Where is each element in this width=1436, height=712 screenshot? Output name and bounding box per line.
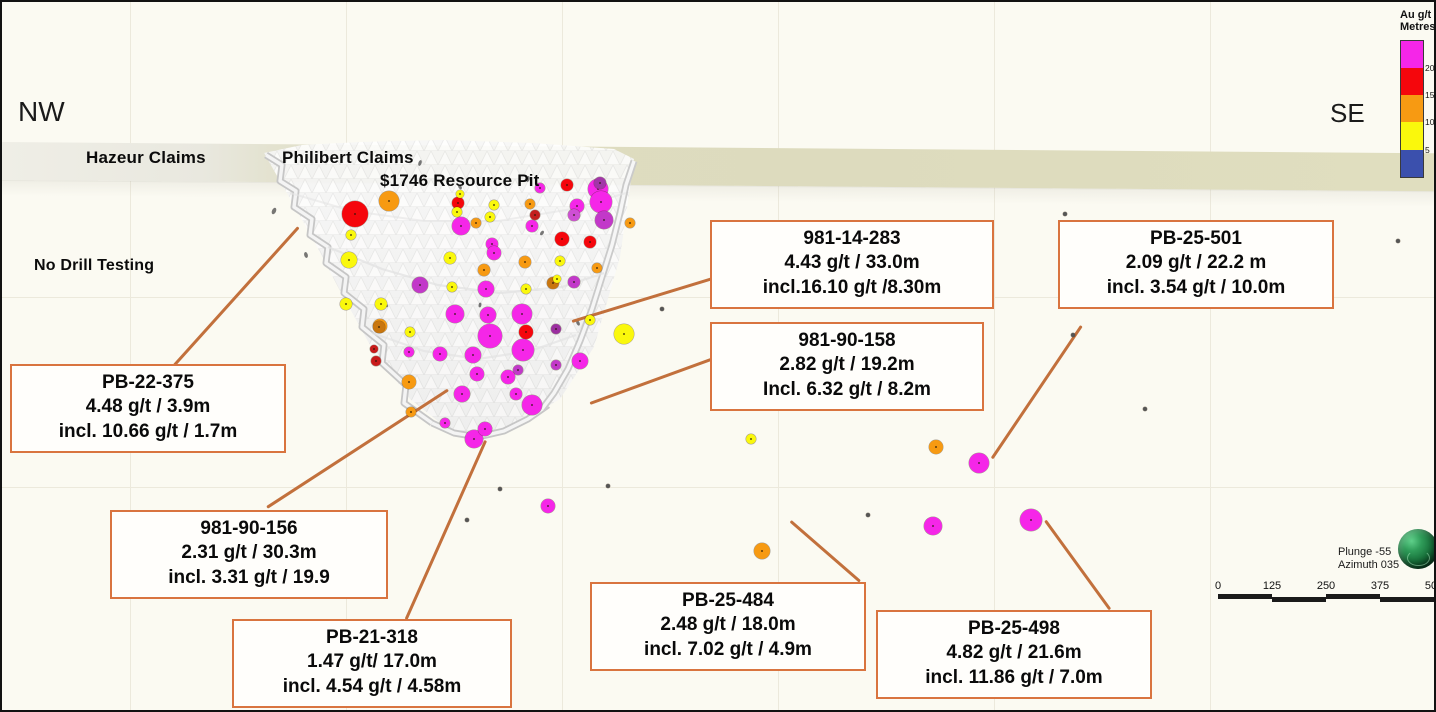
drill-hole-marker [480, 307, 496, 323]
leader-line-981-90-158 [589, 356, 716, 405]
callout-intercept-line: incl.16.10 g/t /8.30m [724, 276, 980, 300]
drill-hole-marker [405, 327, 415, 337]
leader-line-981-14-283 [572, 273, 726, 323]
drill-hole-marker [485, 212, 495, 222]
drill-hole-marker [370, 345, 378, 353]
drill-hole-marker [478, 422, 492, 436]
drill-hole-marker [594, 177, 606, 189]
scale-tick-labels: 0125250375500 [1218, 580, 1434, 594]
drill-hole-marker [541, 499, 555, 513]
color-legend: Au g/t Metres 2015105 [1400, 10, 1435, 178]
drill-hole-marker [1396, 239, 1400, 243]
grid-line-vertical [346, 2, 347, 710]
drill-hole-marker [606, 484, 610, 488]
legend-band [1401, 122, 1423, 149]
drill-hole-marker [924, 517, 942, 535]
drill-hole-marker [371, 356, 381, 366]
drill-hole-marker [501, 370, 515, 384]
drill-hole-marker [452, 207, 462, 217]
intercept-callout[interactable]: 981-14-2834.43 g/t / 33.0mincl.16.10 g/t… [710, 220, 994, 309]
drill-hole-marker [373, 321, 385, 333]
drill-hole-marker [568, 276, 580, 288]
callout-intercept-line: incl. 7.02 g/t / 4.9m [604, 638, 852, 662]
drill-hole-marker [660, 307, 664, 311]
drill-hole-marker [487, 246, 501, 260]
intercept-callout[interactable]: PB-25-4984.82 g/t / 21.6mincl. 11.86 g/t… [876, 610, 1152, 699]
drill-hole-marker [447, 282, 457, 292]
grid-line-vertical [994, 2, 995, 710]
drill-hole-marker [478, 264, 490, 276]
drill-hole-marker [340, 298, 352, 310]
grid-line-vertical [130, 2, 131, 710]
drill-hole-marker [866, 513, 870, 517]
drill-hole-marker [1071, 333, 1075, 337]
drill-hole-marker [1063, 212, 1067, 216]
grid-line-vertical [1210, 2, 1211, 710]
drill-hole-marker [510, 388, 522, 400]
callout-hole-id: 981-14-283 [724, 227, 980, 251]
drill-hole-marker [498, 487, 502, 491]
intercept-callout[interactable]: PB-25-5012.09 g/t / 22.2 mincl. 3.54 g/t… [1058, 220, 1334, 309]
callout-hole-id: PB-25-484 [604, 589, 852, 613]
legend-band [1401, 95, 1423, 122]
drill-hole-marker [519, 256, 531, 268]
drill-hole-marker [402, 375, 416, 389]
intercept-callout[interactable]: PB-21-3181.47 g/t/ 17.0mincl. 4.54 g/t /… [232, 619, 512, 708]
callout-intercept-line: 4.43 g/t / 33.0m [724, 251, 980, 275]
intercept-callout[interactable]: 981-90-1582.82 g/t / 19.2mIncl. 6.32 g/t… [710, 322, 984, 411]
leader-line-981-90-156 [266, 389, 449, 509]
intercept-callout[interactable]: PB-25-4842.48 g/t / 18.0mincl. 7.02 g/t … [590, 582, 866, 671]
drill-hole-marker [454, 386, 470, 402]
scale-bar-segments [1218, 594, 1434, 602]
drill-hole-marker [530, 210, 540, 220]
annotation-no-drill-testing: No Drill Testing [34, 257, 154, 275]
drill-hole-marker [521, 284, 531, 294]
callout-intercept-line: 2.82 g/t / 19.2m [724, 353, 970, 377]
section-figure: NW SE Hazeur Claims Philibert Claims $17… [0, 0, 1436, 712]
drill-hole-marker [465, 347, 481, 363]
drill-hole-marker [346, 230, 356, 240]
drill-hole-marker [470, 367, 484, 381]
drill-hole-marker [456, 190, 464, 198]
drill-hole-marker [592, 263, 602, 273]
grid-line-vertical [562, 2, 563, 710]
legend-title-line2: Metres [1400, 22, 1435, 34]
leader-line-pb-21-318 [405, 440, 487, 620]
callout-intercept-line: incl. 3.54 g/t / 10.0m [1072, 276, 1320, 300]
drill-hole-marker [341, 252, 357, 268]
scale-tick-label: 0 [1215, 580, 1221, 592]
drill-hole-marker [452, 217, 470, 235]
drill-hole-marker [1020, 509, 1042, 531]
orientation-label-nw: NW [18, 96, 65, 128]
grid-line-horizontal [2, 487, 1434, 488]
drill-hole-marker [444, 252, 456, 264]
drill-hole-marker [551, 360, 561, 370]
drill-hole-marker [519, 325, 533, 339]
callout-hole-id: PB-21-318 [246, 626, 498, 650]
drill-hole-marker [512, 339, 534, 361]
callout-hole-id: PB-25-501 [1072, 227, 1320, 251]
callout-intercept-line: 2.31 g/t / 30.3m [124, 541, 374, 565]
callout-intercept-line: incl. 10.66 g/t / 1.7m [24, 420, 272, 444]
callout-intercept-line: 4.48 g/t / 3.9m [24, 395, 272, 419]
legend-tick-label: 5 [1425, 145, 1430, 155]
drill-hole-marker [465, 518, 469, 522]
scale-tick-label: 125 [1263, 580, 1281, 592]
drill-hole-marker [969, 453, 989, 473]
drill-hole-marker [572, 353, 588, 369]
drill-hole-marker [625, 218, 635, 228]
legend-band [1401, 41, 1423, 68]
orientation-label-se: SE [1330, 98, 1365, 129]
callout-hole-id: 981-90-158 [724, 329, 970, 353]
drill-hole-marker [375, 298, 387, 310]
drill-hole-marker [555, 232, 569, 246]
legend-band [1401, 68, 1423, 95]
drill-hole-marker [522, 395, 542, 415]
drill-hole-marker [446, 305, 464, 323]
callout-hole-id: 981-90-156 [124, 517, 374, 541]
plunge-label: Plunge -55 [1338, 546, 1391, 560]
drill-hole-marker [1143, 407, 1147, 411]
leader-line-pb-25-498 [1044, 520, 1111, 611]
intercept-callout[interactable]: 981-90-1562.31 g/t / 30.3mincl. 3.31 g/t… [110, 510, 388, 599]
scale-tick-label: 375 [1371, 580, 1389, 592]
callout-intercept-line: 2.09 g/t / 22.2 m [1072, 251, 1320, 275]
callout-intercept-line: 4.82 g/t / 21.6m [890, 641, 1138, 665]
leader-line-pb-25-501 [991, 325, 1083, 459]
drill-hole-marker [590, 191, 612, 213]
drill-hole-marker [404, 347, 414, 357]
legend-tick-label: 20 [1425, 63, 1434, 73]
drill-hole-marker [929, 440, 943, 454]
drill-hole-marker [406, 407, 416, 417]
drill-hole-marker [754, 543, 770, 559]
drill-hole-marker [512, 304, 532, 324]
annotation-resource-pit: $1746 Resource Pit [380, 171, 540, 191]
drill-hole-marker [478, 281, 494, 297]
drill-hole-marker [440, 418, 450, 428]
annotation-philibert-claims: Philibert Claims [282, 148, 414, 168]
drill-hole-marker [489, 200, 499, 210]
drill-hole-marker [568, 209, 580, 221]
scale-tick-label: 250 [1317, 580, 1335, 592]
legend-band [1401, 150, 1423, 177]
compass-sphere-icon[interactable] [1398, 529, 1436, 569]
callout-intercept-line: Incl. 6.32 g/t / 8.2m [724, 378, 970, 402]
drill-hole-marker [526, 220, 538, 232]
intercept-callout[interactable]: PB-22-3754.48 g/t / 3.9mincl. 10.66 g/t … [10, 364, 286, 453]
scale-bar: 0125250375500 [1218, 580, 1434, 602]
drill-hole-marker [471, 218, 481, 228]
callout-intercept-line: incl. 3.31 g/t / 19.9 [124, 566, 374, 590]
legend-tick-label: 15 [1425, 90, 1434, 100]
drill-hole-marker [433, 347, 447, 361]
drill-hole-marker [412, 277, 428, 293]
callout-intercept-line: 2.48 g/t / 18.0m [604, 613, 852, 637]
drill-hole-marker [551, 324, 561, 334]
callout-intercept-line: 1.47 g/t/ 17.0m [246, 650, 498, 674]
drill-hole-marker [584, 236, 596, 248]
callout-hole-id: PB-22-375 [24, 371, 272, 395]
drill-hole-marker [555, 256, 565, 266]
drill-hole-marker [379, 191, 399, 211]
leader-line-pb-25-484 [790, 520, 861, 583]
drill-hole-marker [342, 201, 368, 227]
drill-hole-marker [525, 199, 535, 209]
drill-hole-marker [746, 434, 756, 444]
legend-color-bar: 2015105 [1400, 40, 1424, 178]
drill-hole-marker [595, 211, 613, 229]
callout-hole-id: PB-25-498 [890, 617, 1138, 641]
callout-intercept-line: incl. 4.54 g/t / 4.58m [246, 675, 498, 699]
drill-hole-marker [553, 275, 561, 283]
legend-tick-label: 10 [1425, 117, 1434, 127]
azimuth-label: Azimuth 035 [1338, 559, 1399, 573]
drill-hole-marker [561, 179, 573, 191]
drill-hole-marker [478, 324, 502, 348]
drill-hole-marker [614, 324, 634, 344]
scale-tick-label: 500 [1425, 580, 1436, 592]
drill-hole-marker [585, 315, 595, 325]
annotation-hazeur-claims: Hazeur Claims [86, 148, 206, 168]
callout-intercept-line: incl. 11.86 g/t / 7.0m [890, 666, 1138, 690]
